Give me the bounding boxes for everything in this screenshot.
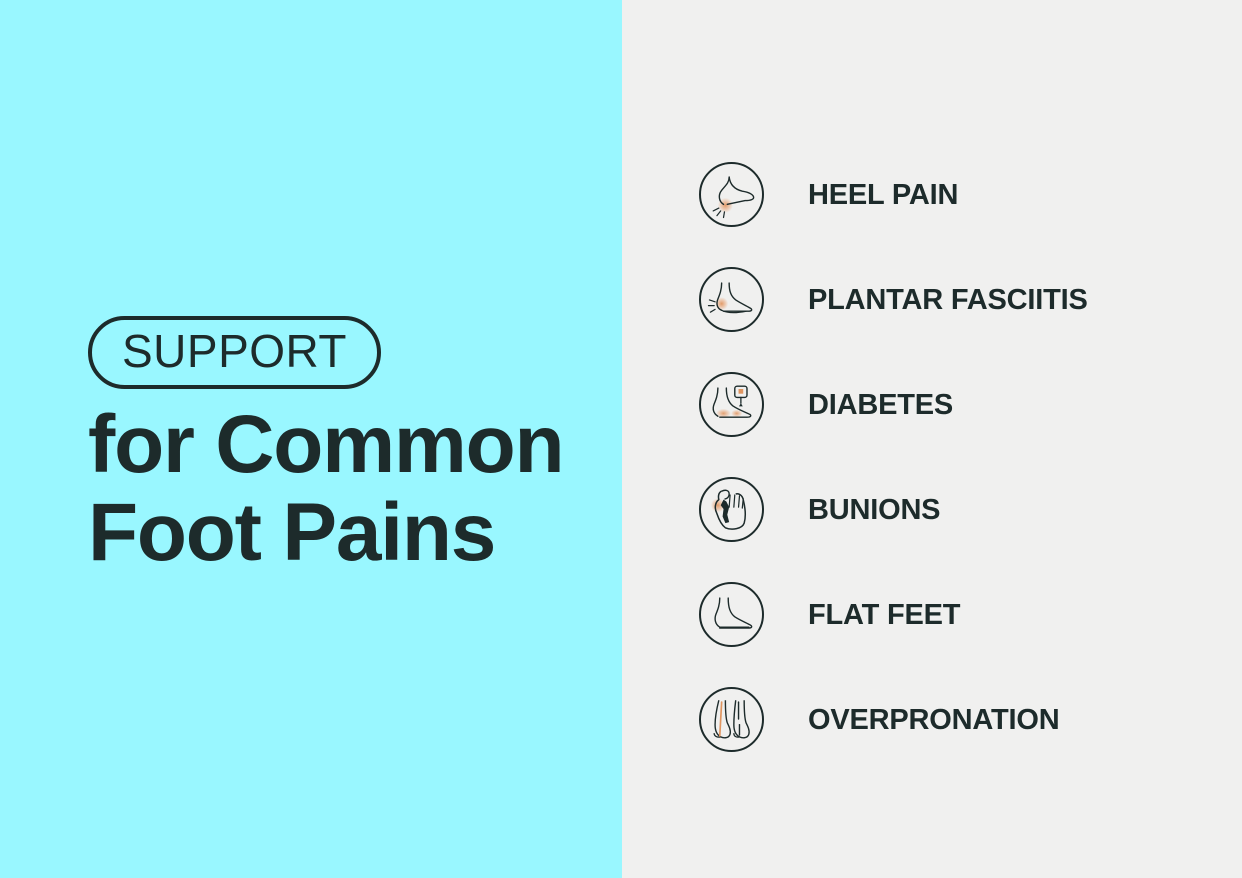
right-panel: HEEL PAIN (622, 0, 1242, 878)
list-item: DIABETES (699, 372, 1229, 437)
left-panel: SUPPORT for Common Foot Pains (0, 0, 622, 878)
list-item: PLANTAR FASCIITIS (699, 267, 1229, 332)
heel-pain-icon (699, 162, 764, 227)
flat-feet-icon (699, 582, 764, 647)
page-title: for Common Foot Pains (88, 401, 588, 577)
list-item-label: DIABETES (808, 389, 953, 421)
list-item-label: PLANTAR FASCIITIS (808, 284, 1088, 316)
headline-line-2: Foot Pains (88, 489, 588, 577)
plantar-fasciitis-icon (699, 267, 764, 332)
support-badge-label: SUPPORT (122, 326, 347, 376)
list-item-label: BUNIONS (808, 494, 940, 526)
headline-line-1: for Common (88, 401, 588, 489)
condition-list: HEEL PAIN (699, 162, 1229, 752)
bunions-icon (699, 477, 764, 542)
list-item: OVERPRONATION (699, 687, 1229, 752)
overpronation-icon (699, 687, 764, 752)
list-item: BUNIONS (699, 477, 1229, 542)
list-item: HEEL PAIN (699, 162, 1229, 227)
infographic-poster: SUPPORT for Common Foot Pains (0, 0, 1242, 878)
list-item-label: HEEL PAIN (808, 179, 958, 211)
list-item: FLAT FEET (699, 582, 1229, 647)
list-item-label: FLAT FEET (808, 599, 960, 631)
headline-block: SUPPORT for Common Foot Pains (88, 316, 588, 577)
diabetes-icon (699, 372, 764, 437)
support-badge: SUPPORT (88, 316, 381, 389)
list-item-label: OVERPRONATION (808, 704, 1059, 736)
